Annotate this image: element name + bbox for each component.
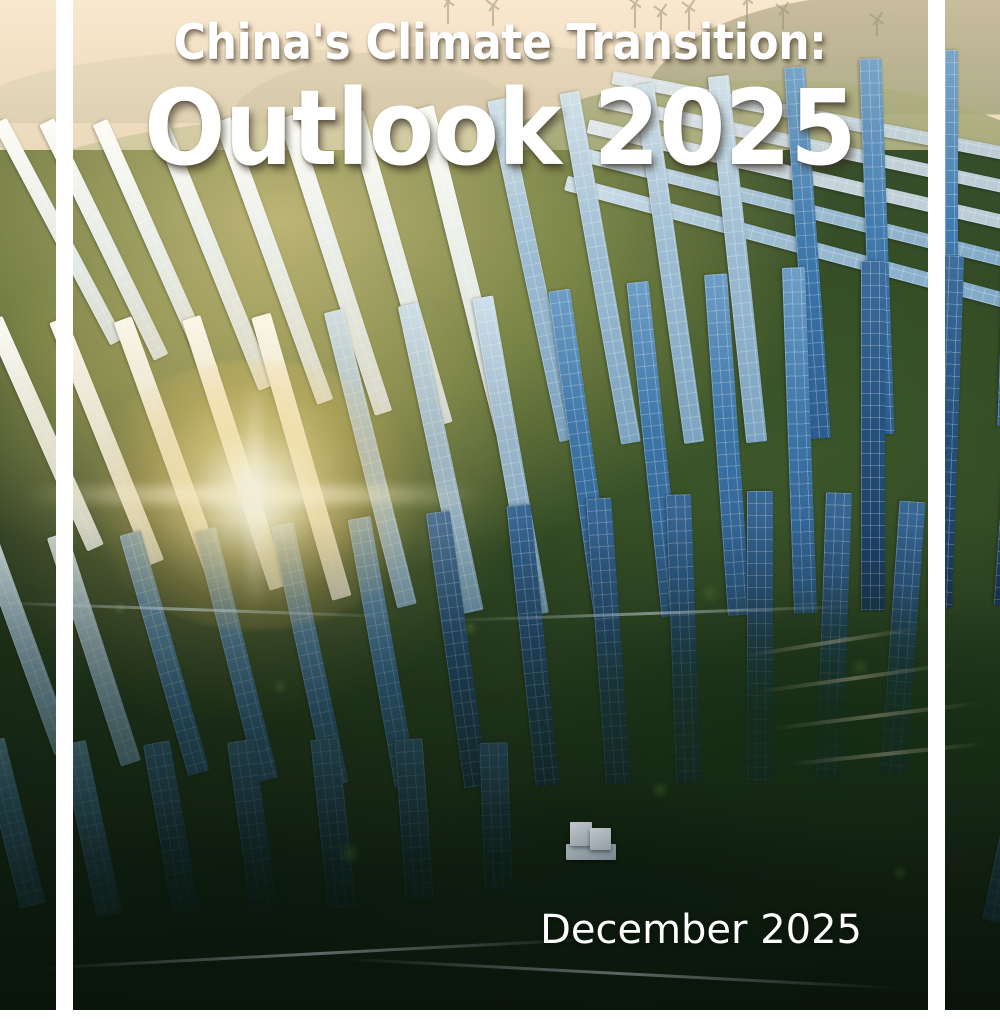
bottom-frame-stripe (0, 1010, 1000, 1024)
right-frame-stripe (928, 0, 945, 1010)
inverter-station (566, 818, 624, 866)
tree-canopy (0, 520, 1000, 1010)
cover-photograph (0, 0, 1000, 1010)
report-cover: China's Climate Transition: Outlook 2025… (0, 0, 1000, 1024)
solar-panel-row (152, 119, 275, 391)
left-frame-stripe (56, 0, 73, 1010)
solar-panel-row (0, 316, 104, 552)
